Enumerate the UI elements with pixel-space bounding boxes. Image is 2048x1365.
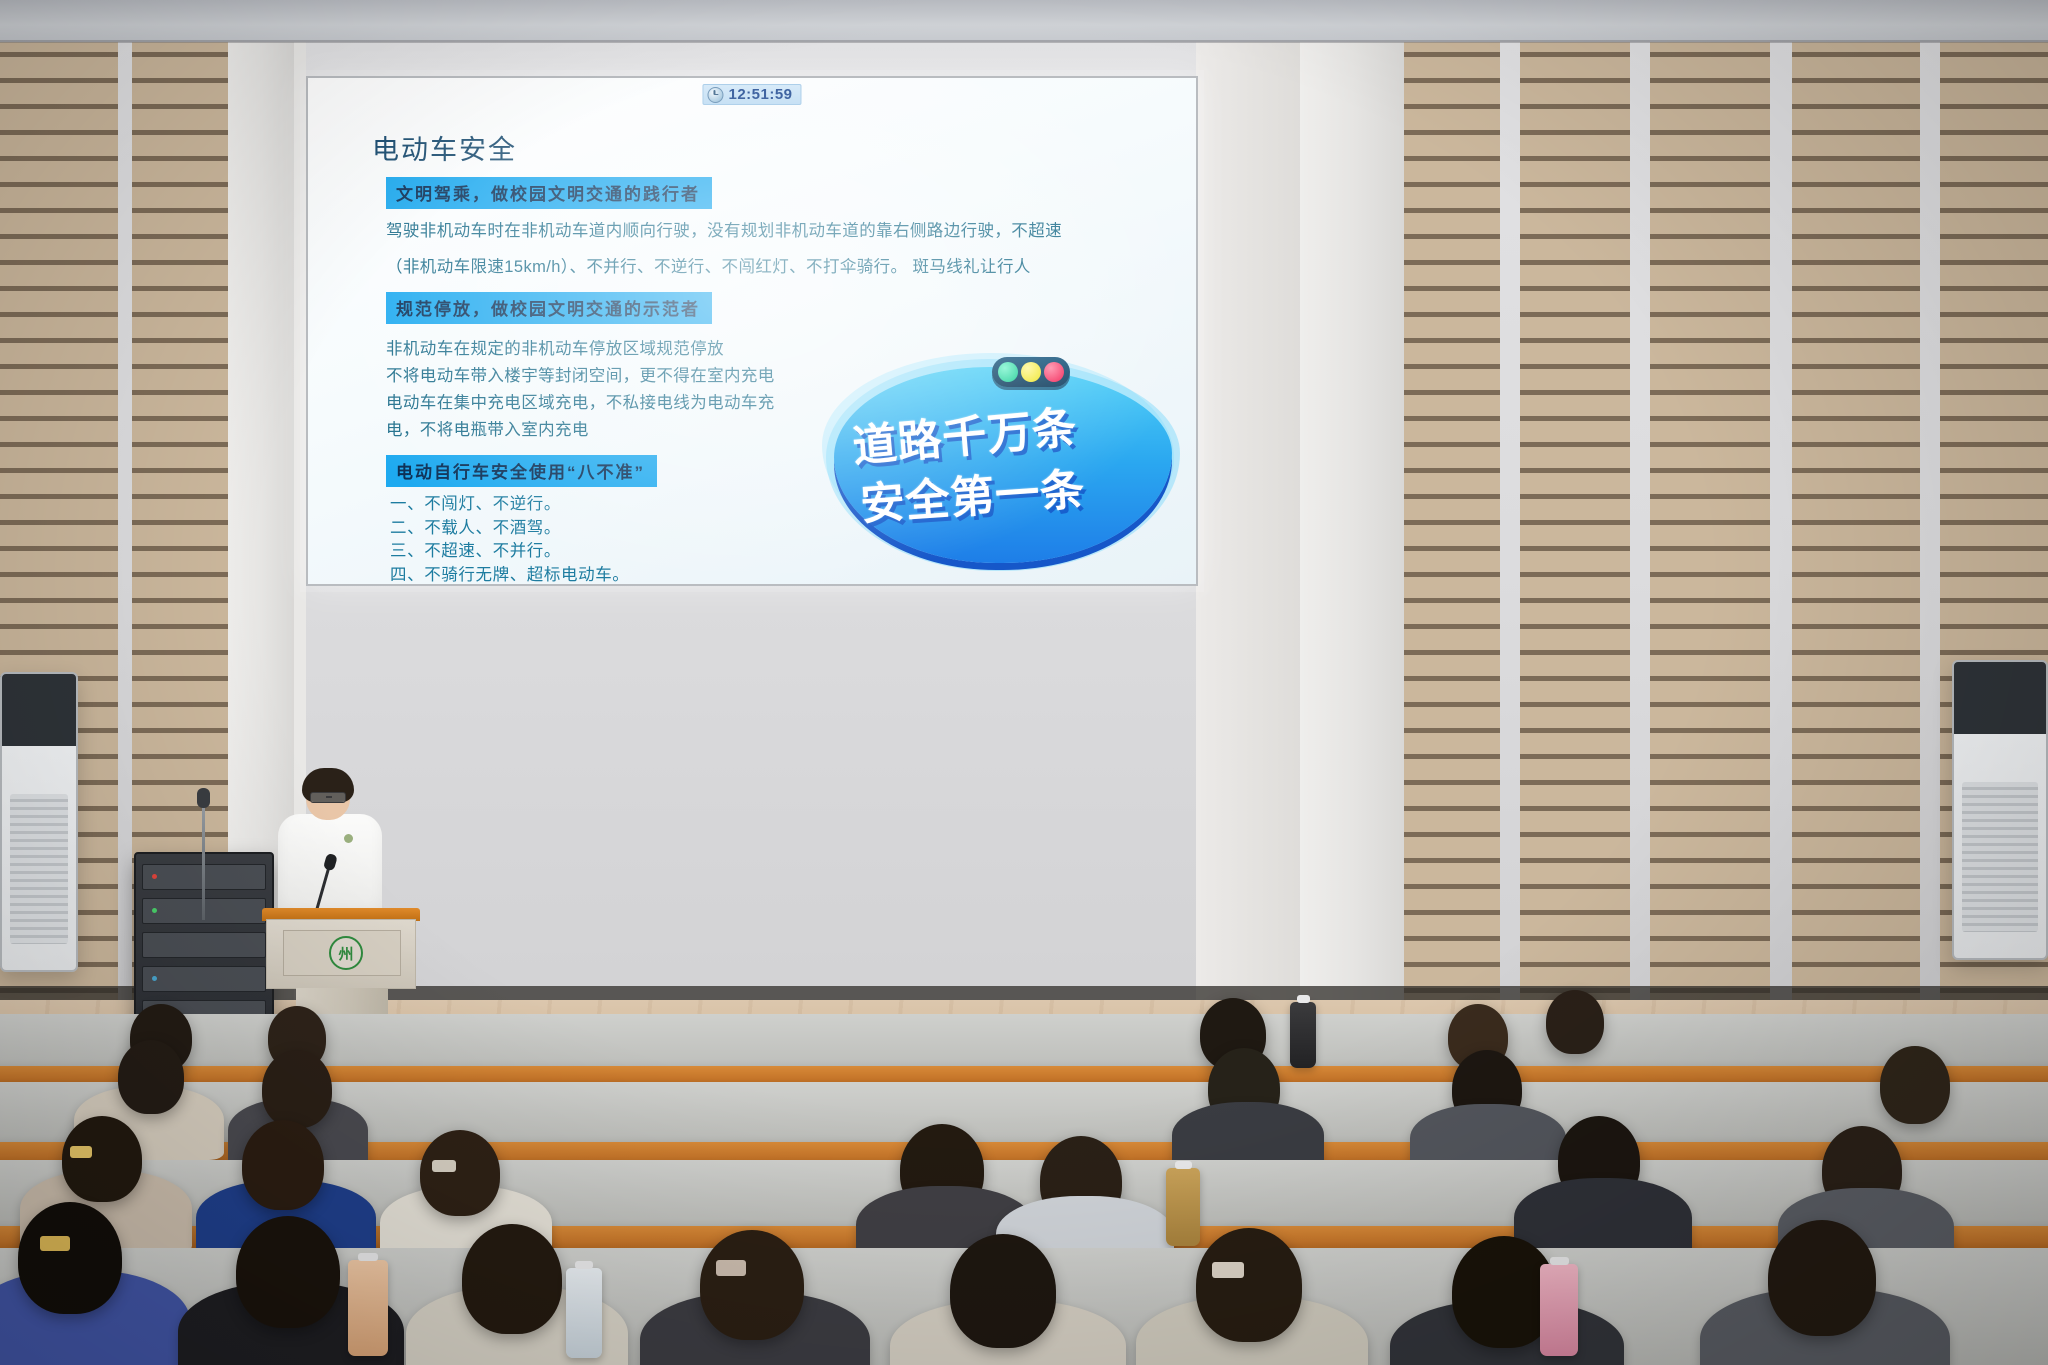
air-conditioner-right xyxy=(1952,660,2048,960)
audience-seating xyxy=(0,1020,2048,1365)
rack-unit-3 xyxy=(142,932,266,958)
audience-head xyxy=(18,1202,122,1314)
audience-head xyxy=(700,1230,804,1340)
section-1-paragraph-2: （非机动车限速15km/h）、不并行、不逆行、不闯红灯、不打伞骑行。 斑马线礼让… xyxy=(386,254,1116,281)
rack-unit-4 xyxy=(142,966,266,992)
slide-timer[interactable]: 12:51:59 xyxy=(702,84,801,105)
podium-front-panel: 州 xyxy=(266,919,416,989)
ceiling-seam xyxy=(0,40,2048,43)
section-1-paragraph-1: 驾驶非机动车时在非机动车道内顺向行驶，没有规划非机动车道的靠右侧路边行驶，不超速 xyxy=(386,218,1116,245)
wall-slat-panel-right-3 xyxy=(1650,0,1770,1000)
water-bottle xyxy=(348,1260,388,1356)
audience-head xyxy=(262,1050,332,1128)
wall-edge-right xyxy=(1196,0,1304,1010)
hair-clip xyxy=(70,1146,92,1158)
audience-head xyxy=(118,1040,184,1114)
wall-slat-panel-right-2 xyxy=(1520,0,1630,1000)
audience-head xyxy=(242,1120,324,1210)
wall-slat-panel-left-2 xyxy=(132,0,228,1000)
audience-head xyxy=(236,1216,340,1328)
presenter xyxy=(272,768,392,918)
ac-right-grill xyxy=(1962,782,2038,932)
presentation-slide: 12:51:59 电动车安全 文明驾乘，做校园文明交通的践行者 驾驶非机动车时在… xyxy=(308,78,1196,584)
audience-head xyxy=(1196,1228,1302,1342)
traffic-light-yellow xyxy=(1021,362,1041,382)
audience-head xyxy=(420,1130,500,1216)
audience-head xyxy=(1768,1220,1876,1336)
wall-column-right xyxy=(1300,0,1404,1010)
hair-clip xyxy=(1212,1262,1244,1278)
slide-title: 电动车安全 xyxy=(372,128,1170,167)
water-bottle xyxy=(566,1268,602,1358)
wall-slat-panel-right-4 xyxy=(1792,0,1920,1000)
audience-head xyxy=(62,1116,142,1202)
lecture-hall-photo: 12:51:59 电动车安全 文明驾乘，做校园文明交通的践行者 驾驶非机动车时在… xyxy=(0,0,2048,1365)
ceiling-strip xyxy=(0,0,2048,42)
clock-icon xyxy=(707,87,723,103)
rack-led-red xyxy=(152,874,157,879)
rack-led-green xyxy=(152,908,157,913)
traffic-light-red xyxy=(1044,362,1064,382)
section-heading-1: 文明驾乘，做校园文明交通的践行者 xyxy=(386,177,712,209)
rack-led-blue xyxy=(152,976,157,981)
rules-heading: 电动自行车安全使用“八不准” xyxy=(386,455,657,487)
audience-head xyxy=(462,1224,562,1334)
wall-slat-panel-right-1 xyxy=(1404,0,1500,1000)
water-bottle xyxy=(1540,1264,1578,1356)
presenter-shirt-logo xyxy=(344,834,353,843)
hair-clip xyxy=(40,1236,70,1251)
audience-head xyxy=(1546,990,1604,1054)
audience-head xyxy=(950,1234,1056,1348)
traffic-light-green xyxy=(998,362,1018,382)
floor-microphone-stand xyxy=(202,800,205,920)
hair-clip xyxy=(716,1260,746,1276)
ac-left-grill xyxy=(10,794,68,944)
water-bottle xyxy=(1166,1168,1200,1246)
water-bottle xyxy=(1290,1002,1316,1068)
air-conditioner-left xyxy=(0,672,78,972)
hair-clip xyxy=(432,1160,456,1172)
university-seal: 州 xyxy=(329,936,363,970)
audience-head xyxy=(1880,1046,1950,1124)
traffic-light-icon xyxy=(992,357,1070,387)
presenter-glasses xyxy=(310,792,346,803)
projection-screen: 12:51:59 电动车安全 文明驾乘，做校园文明交通的践行者 驾驶非机动车时在… xyxy=(306,76,1198,586)
road-safety-graphic: 道路千万条 安全第一条 xyxy=(816,343,1186,578)
section-heading-2: 规范停放，做校园文明交通的示范者 xyxy=(386,292,712,324)
timer-value: 12:51:59 xyxy=(728,86,792,103)
